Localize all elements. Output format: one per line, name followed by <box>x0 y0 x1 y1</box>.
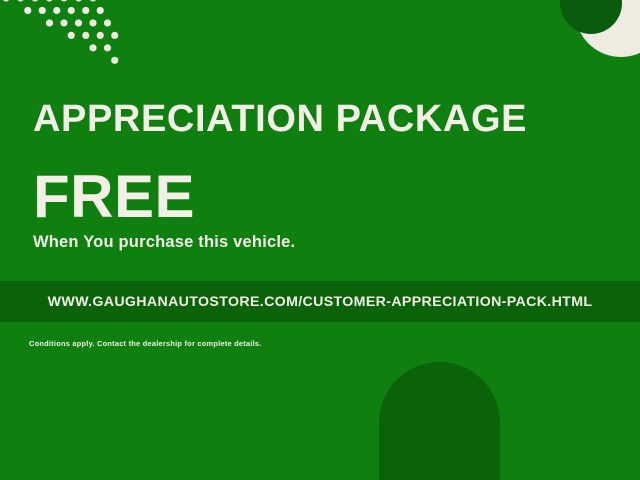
dot-grid-triangle-icon <box>0 0 120 86</box>
page-title: APPRECIATION PACKAGE <box>33 100 527 138</box>
url-banner[interactable]: WWW.GAUGHANAUTOSTORE.COM/CUSTOMER-APPREC… <box>0 281 640 322</box>
offer-headline: FREE <box>33 167 195 227</box>
url-link[interactable]: WWW.GAUGHANAUTOSTORE.COM/CUSTOMER-APPREC… <box>48 294 593 310</box>
disclaimer-text: Conditions apply. Contact the dealership… <box>29 339 262 348</box>
arch-shape-icon <box>379 362 500 480</box>
promo-poster: APPRECIATION PACKAGE FREE When You purch… <box>0 0 640 480</box>
offer-subheadline: When You purchase this vehicle. <box>33 233 295 252</box>
